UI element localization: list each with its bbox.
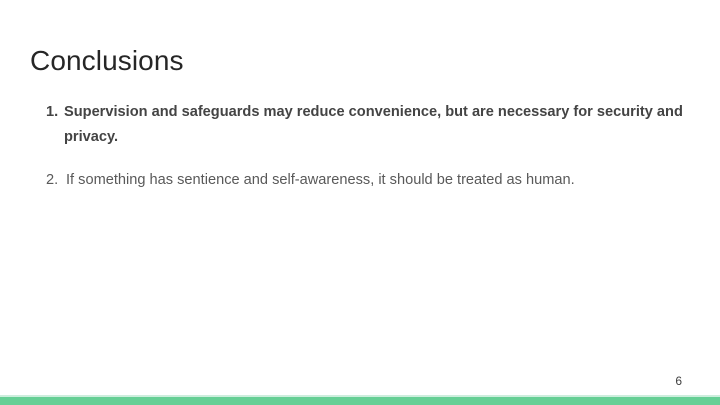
page-title: Conclusions [30,44,184,78]
slide-canvas: Conclusions 1. Supervision and safeguard… [0,0,720,405]
page-number: 6 [675,373,682,389]
list-item: 1. Supervision and safeguards may reduce… [46,100,694,150]
list-item-marker: 1. [46,100,66,125]
list-item-text: If something has sentience and self-awar… [66,168,694,193]
conclusions-list: 1. Supervision and safeguards may reduce… [46,100,694,193]
list-item: 2. If something has sentience and self-a… [46,168,694,193]
list-item-marker: 2. [46,168,66,193]
footer-accent-bar [0,397,720,405]
list-item-text: Supervision and safeguards may reduce co… [64,100,694,150]
